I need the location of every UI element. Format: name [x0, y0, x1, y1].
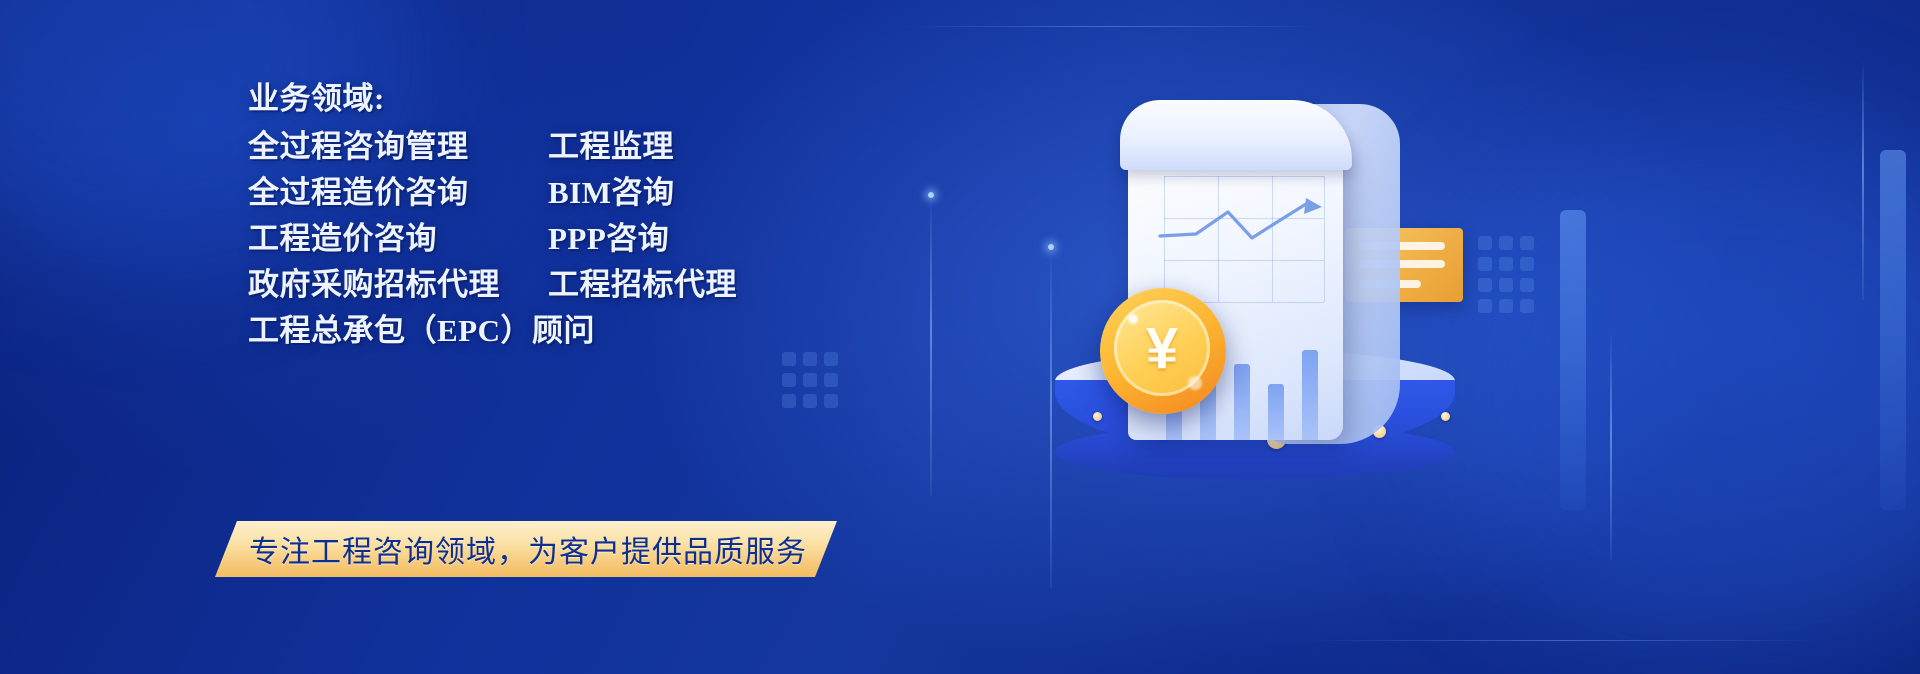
- service-left: 工程总承包（EPC）顾问: [248, 308, 548, 354]
- glow-line-bottom: [1300, 640, 1820, 641]
- service-left: 全过程造价咨询: [248, 170, 548, 216]
- slogan-text: 专注工程咨询领域，为客户提供品质服务: [249, 527, 807, 571]
- service-right: BIM咨询: [548, 170, 675, 216]
- dot-grid-right: [1478, 236, 1534, 313]
- finance-illustration: ¥: [1045, 50, 1485, 470]
- report-bar: [1268, 384, 1284, 440]
- service-row: 全过程造价咨询 BIM咨询: [248, 170, 1008, 216]
- yen-coin: ¥: [1100, 288, 1226, 414]
- glow-blob-right: [1420, 120, 1920, 640]
- pedestal-dot: [1093, 412, 1102, 421]
- service-row: 政府采购招标代理 工程招标代理: [248, 262, 1008, 308]
- service-right: 工程招标代理: [548, 262, 737, 308]
- paper-curl: [1120, 100, 1352, 170]
- chart-gridline: [1164, 176, 1324, 177]
- bg-bar-1: [1560, 210, 1586, 510]
- service-row: 工程造价咨询 PPP咨询: [248, 216, 1008, 262]
- slogan-ribbon: 专注工程咨询领域，为客户提供品质服务: [215, 521, 837, 577]
- business-scope-banner: 业务领域: 全过程咨询管理 工程监理 全过程造价咨询 BIM咨询 工程造价咨询 …: [0, 0, 1920, 674]
- glow-line-top: [900, 26, 1320, 27]
- accent-line-3: [1862, 60, 1864, 300]
- coin-sparkle: [1188, 376, 1202, 390]
- service-left: 工程造价咨询: [248, 216, 548, 262]
- service-row: 工程总承包（EPC）顾问: [248, 308, 1008, 354]
- trend-arrow-icon: [1156, 198, 1336, 268]
- business-scope-copy: 业务领域: 全过程咨询管理 工程监理 全过程造价咨询 BIM咨询 工程造价咨询 …: [248, 74, 1008, 354]
- accent-line-4: [1610, 330, 1612, 560]
- service-right: PPP咨询: [548, 216, 669, 262]
- coin-sparkle: [1128, 314, 1138, 324]
- report-bar: [1302, 350, 1318, 440]
- dot-grid-left: [782, 352, 838, 408]
- bg-bar-2: [1880, 150, 1906, 510]
- copy-heading: 业务领域:: [248, 74, 1008, 124]
- service-left: 全过程咨询管理: [248, 124, 548, 170]
- service-right: 工程监理: [548, 124, 674, 170]
- report-bar: [1234, 364, 1250, 440]
- pedestal-dot: [1441, 412, 1450, 421]
- service-left: 政府采购招标代理: [248, 262, 548, 308]
- service-row: 全过程咨询管理 工程监理: [248, 124, 1008, 170]
